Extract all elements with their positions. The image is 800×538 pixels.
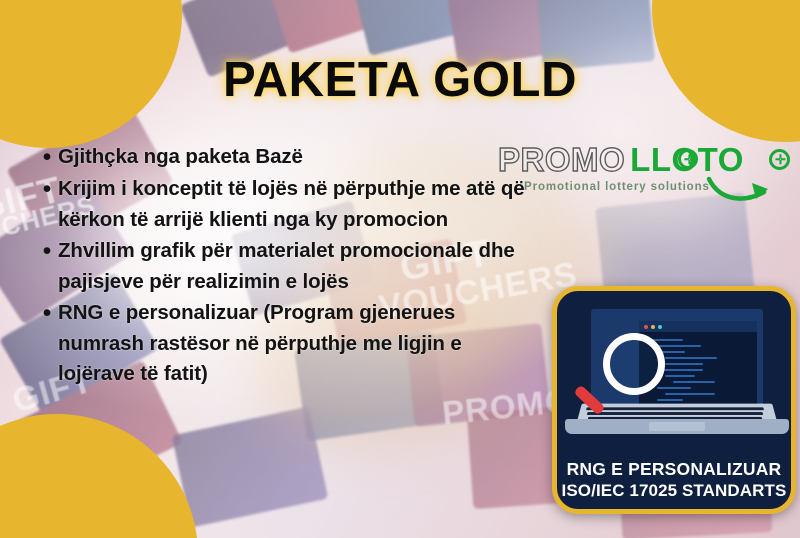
promo-lloto-logo: PROMO LLOTO Promotional lottery solution… — [498, 141, 798, 203]
bullet-marker-icon: • — [36, 142, 58, 173]
list-item-label: Zhvillim grafik për materialet promocion… — [58, 236, 534, 297]
bullet-marker-icon: • — [36, 298, 58, 329]
rng-certification-badge: RNG E PERSONALIZUAR ISO/IEC 17025 STANDA… — [552, 286, 796, 514]
logo-arrow-icon — [706, 175, 778, 205]
laptop-trackpad — [649, 422, 705, 431]
window-titlebar — [639, 321, 757, 332]
logo-word-promo: PROMO — [498, 141, 625, 179]
keyboard-key — [587, 412, 764, 415]
badge-caption: RNG E PERSONALIZUAR ISO/IEC 17025 STANDA… — [557, 459, 791, 501]
magnifier-lens-icon — [603, 333, 665, 395]
list-item-label: Gjithçka nga paketa Bazë — [58, 142, 534, 173]
code-line — [657, 345, 701, 347]
list-item: • Zhvillim grafik për materialet promoci… — [36, 236, 534, 297]
badge-illustration — [557, 291, 791, 463]
list-item-label: Krijim i konceptit të lojës në përputhje… — [58, 174, 534, 235]
list-item: • Gjithçka nga paketa Bazë — [36, 142, 534, 173]
page-title: PAKETA GOLD — [0, 52, 800, 108]
code-line — [657, 399, 683, 401]
promo-slide: GIFT VOUCHERS GIFT VOUCHERS GIFT PROMO P… — [0, 0, 800, 538]
keyboard-key — [586, 407, 764, 410]
code-line — [673, 381, 715, 383]
logo-target-plus-icon: ✛ — [684, 153, 695, 166]
badge-subtitle: ISO/IEC 17025 STANDARTS — [557, 481, 791, 501]
logo-target-plus-icon: ✛ — [775, 153, 786, 166]
list-item-label: RNG e personalizuar (Program gjenerues n… — [58, 298, 534, 390]
logo-tagline: Promotional lottery solutions — [524, 181, 710, 193]
window-maximize-dot-icon — [658, 325, 662, 329]
code-line — [665, 393, 715, 395]
bullet-marker-icon: • — [36, 174, 58, 205]
code-line — [665, 357, 717, 359]
window-close-dot-icon — [644, 325, 648, 329]
list-item: • RNG e personalizuar (Program gjenerues… — [36, 298, 534, 390]
badge-title: RNG E PERSONALIZUAR — [557, 459, 791, 480]
code-line — [665, 375, 695, 377]
code-line — [657, 387, 691, 389]
bullet-marker-icon: • — [36, 236, 58, 267]
window-minimize-dot-icon — [651, 325, 655, 329]
code-line — [665, 363, 703, 365]
feature-list: • Gjithçka nga paketa Bazë • Krijim i ko… — [36, 142, 534, 391]
list-item: • Krijim i konceptit të lojës në përputh… — [36, 174, 534, 235]
